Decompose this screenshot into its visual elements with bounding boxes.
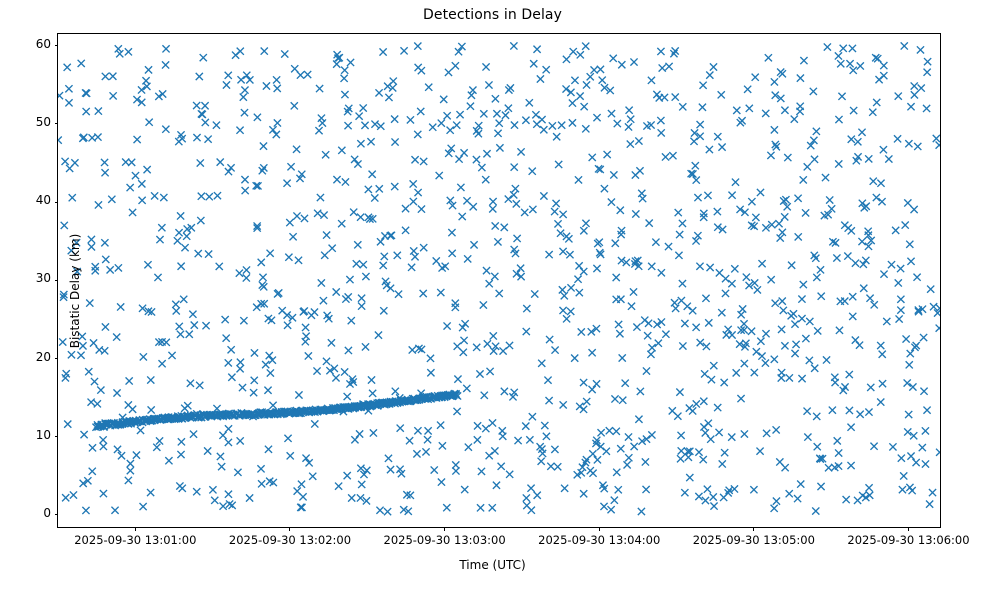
y-tick-mark	[55, 358, 59, 359]
x-tick-label: 2025-09-30 13:06:00	[847, 533, 969, 547]
x-tick-label: 2025-09-30 13:02:00	[229, 533, 351, 547]
y-tick-label: 20	[36, 350, 51, 364]
y-tick-mark	[55, 514, 59, 515]
y-tick-label: 30	[36, 271, 51, 285]
x-tick-label: 2025-09-30 13:04:00	[538, 533, 660, 547]
y-tick-label: 10	[36, 428, 51, 442]
x-tick-mark	[135, 527, 136, 531]
x-tick-label: 2025-09-30 13:03:00	[384, 533, 506, 547]
x-tick-mark	[599, 527, 600, 531]
x-tick-label: 2025-09-30 13:01:00	[74, 533, 196, 547]
x-axis-label: Time (UTC)	[0, 558, 985, 572]
y-tick-label: 60	[36, 37, 51, 51]
y-tick-label: 0	[43, 506, 51, 520]
y-tick-label: 50	[36, 115, 51, 129]
scatter-series	[58, 34, 940, 527]
plot-axes: 0102030405060 2025-09-30 13:01:002025-09…	[57, 33, 941, 528]
figure: Detections in Delay 0102030405060 2025-0…	[0, 0, 985, 590]
y-tick-mark	[55, 45, 59, 46]
x-tick-mark	[289, 527, 290, 531]
x-tick-label: 2025-09-30 13:05:00	[693, 533, 815, 547]
x-tick-mark	[444, 527, 445, 531]
y-tick-mark	[55, 280, 59, 281]
x-tick-mark	[753, 527, 754, 531]
y-tick-mark	[55, 202, 59, 203]
page-title: Detections in Delay	[0, 7, 985, 23]
y-tick-label: 40	[36, 193, 51, 207]
y-tick-mark	[55, 123, 59, 124]
y-tick-mark	[55, 436, 59, 437]
x-tick-mark	[908, 527, 909, 531]
plot-area	[58, 34, 940, 527]
